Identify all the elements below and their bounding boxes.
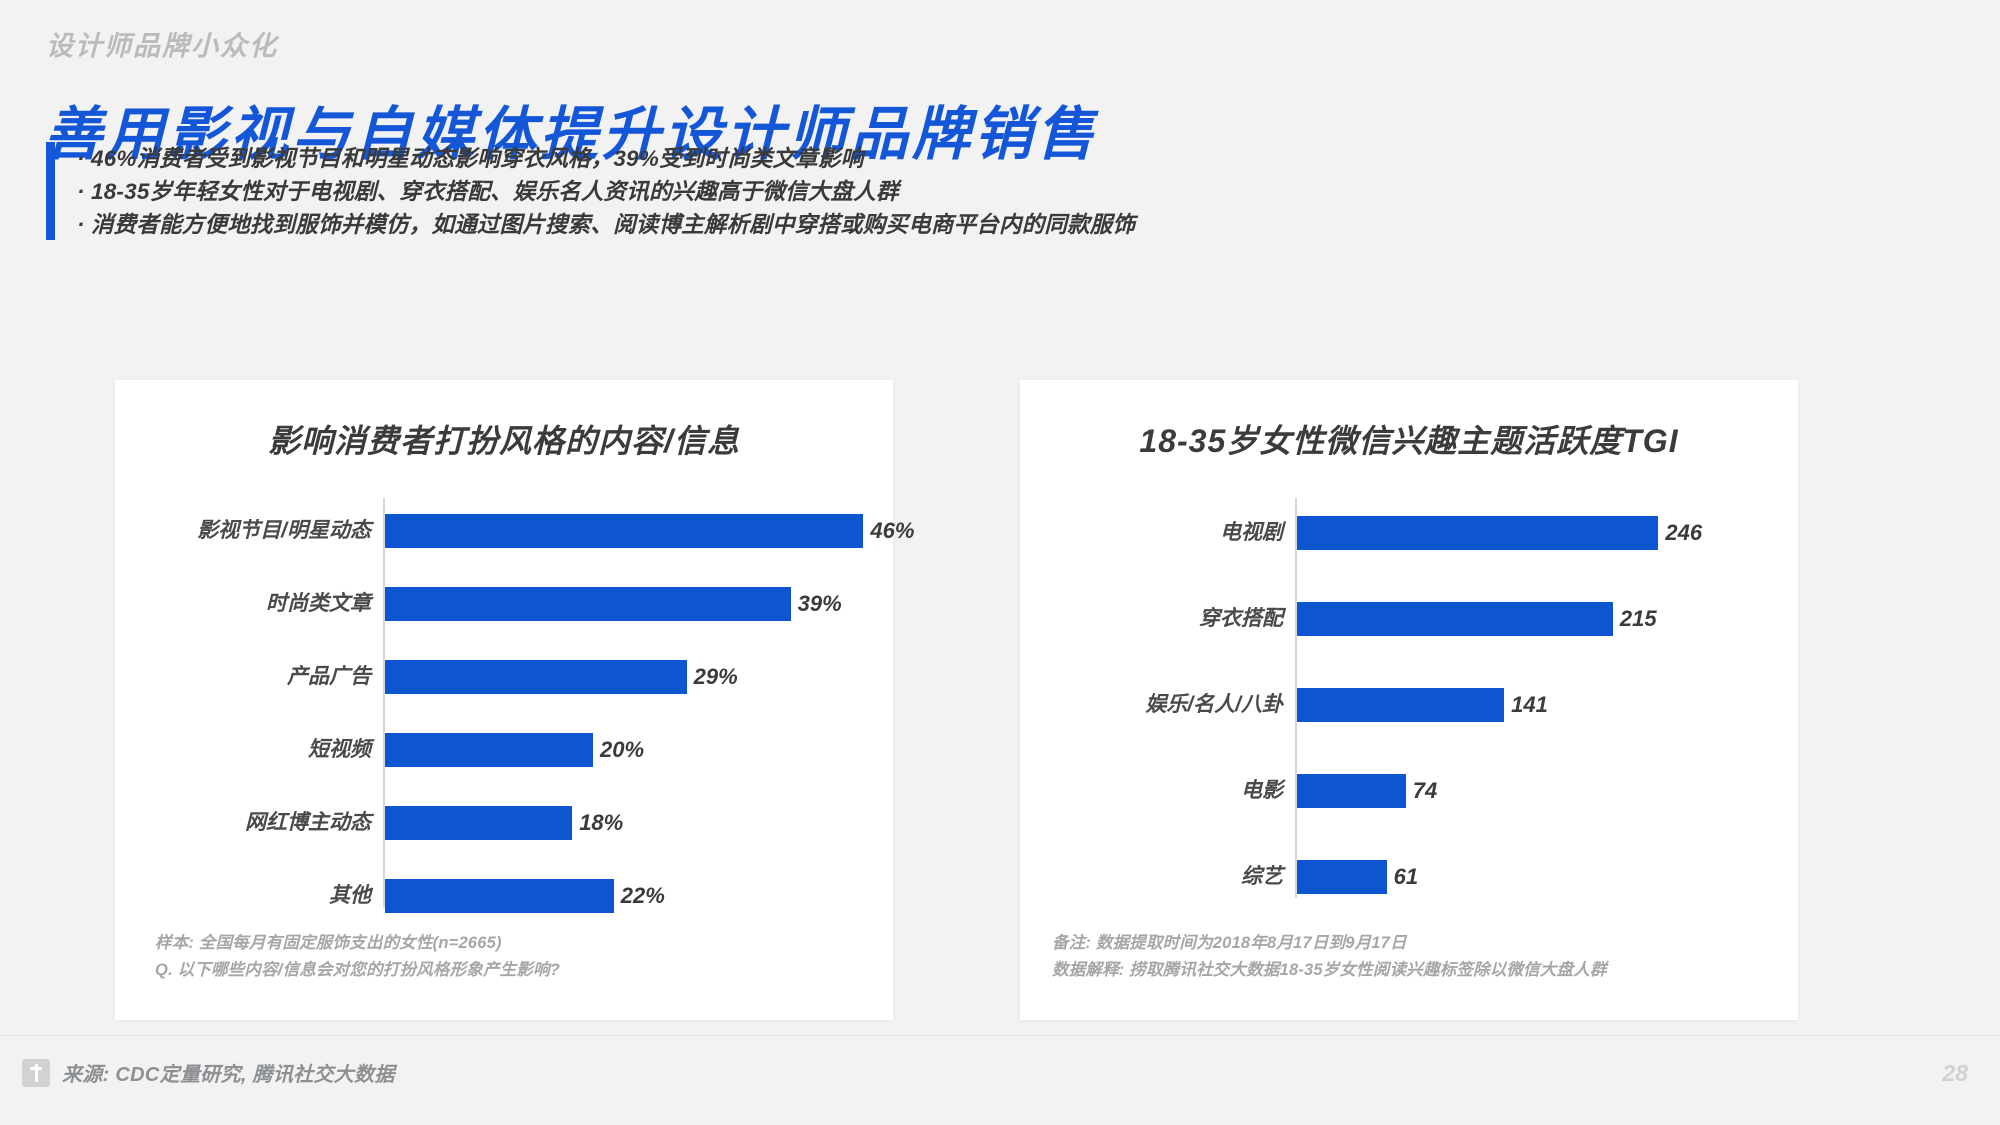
- list-item-label: 18-35岁年轻女性对于电视剧、穿衣搭配、娱乐名人资讯的兴趣高于微信大盘人群: [91, 179, 899, 204]
- list-item-label: 消费者能方便地找到服饰并模仿，如通过图片搜索、阅读博主解析剧中穿搭或购买电商平台…: [91, 212, 1135, 237]
- category-label: 穿衣搭配: [1020, 602, 1283, 636]
- bar-value-label: 39%: [798, 587, 842, 621]
- list-item: ·18-35岁年轻女性对于电视剧、穿衣搭配、娱乐名人资讯的兴趣高于微信大盘人群: [77, 175, 1135, 208]
- footer: 来源: CDC定量研究, 腾讯社交大数据: [22, 1058, 395, 1087]
- footnote-line: Q. 以下哪些内容/信息会对您的打扮风格形象产生影响?: [155, 957, 560, 984]
- category-label: 综艺: [1020, 860, 1283, 894]
- chart-card-right: 18-35岁女性微信兴趣主题活跃度TGI 电视剧246穿衣搭配215娱乐/名人/…: [1020, 380, 1798, 1020]
- bar: [385, 587, 791, 621]
- chart-title: 18-35岁女性微信兴趣主题活跃度TGI: [1020, 416, 1798, 462]
- bar: [1297, 602, 1613, 636]
- chart-bar-row: 影视节目/明星动态46%: [115, 514, 893, 548]
- category-label: 产品广告: [115, 660, 371, 694]
- footer-divider: [0, 1035, 2000, 1036]
- bar-value-label: 29%: [694, 660, 738, 694]
- bar-value-label: 46%: [870, 514, 914, 548]
- bar: [1297, 860, 1387, 894]
- chart-bar-row: 时尚类文章39%: [115, 587, 893, 621]
- category-label: 时尚类文章: [115, 587, 371, 621]
- slide: 设计师品牌小众化 善用影视与自媒体提升设计师品牌销售 ·46%消费者受到影视节目…: [0, 0, 2000, 1125]
- bar-value-label: 18%: [579, 806, 623, 840]
- value-axis-line: [383, 498, 385, 908]
- footnote-line: 备注: 数据提取时间为2018年8月17日到9月17日: [1052, 930, 1607, 957]
- chart-bar-row: 网红博主动态18%: [115, 806, 893, 840]
- bullet-marker-icon: ·: [77, 175, 91, 208]
- chart-bar-row: 其他22%: [115, 879, 893, 913]
- footnote-line: 样本: 全国每月有固定服饰支出的女性(n=2665): [155, 930, 560, 957]
- chart-bar-row: 电视剧246: [1020, 516, 1798, 550]
- bullet-marker-icon: ·: [77, 208, 91, 241]
- bar: [1297, 774, 1406, 808]
- footnote-line: 数据解释: 捞取腾讯社交大数据18-35岁女性阅读兴趣标签除以微信大盘人群: [1052, 957, 1607, 984]
- chart-bar-row: 综艺61: [1020, 860, 1798, 894]
- chart-bar-row: 穿衣搭配215: [1020, 602, 1798, 636]
- chart-card-left: 影响消费者打扮风格的内容/信息 影视节目/明星动态46%时尚类文章39%产品广告…: [115, 380, 893, 1020]
- bar: [385, 660, 687, 694]
- category-label: 短视频: [115, 733, 371, 767]
- bar-value-label: 74: [1413, 774, 1437, 808]
- bar-value-label: 22%: [621, 879, 665, 913]
- bar: [385, 806, 572, 840]
- chart-footnotes: 备注: 数据提取时间为2018年8月17日到9月17日 数据解释: 捞取腾讯社交…: [1052, 930, 1607, 984]
- bar-chart-left: 影视节目/明星动态46%时尚类文章39%产品广告29%短视频20%网红博主动态1…: [115, 498, 893, 908]
- bar-value-label: 215: [1620, 602, 1657, 636]
- key-points-list: ·46%消费者受到影视节目和明星动态影响穿衣风格，39%受到时尚类文章影响 ·1…: [46, 142, 1135, 240]
- bar: [1297, 688, 1504, 722]
- bar-value-label: 141: [1511, 688, 1548, 722]
- category-label: 影视节目/明星动态: [115, 514, 371, 548]
- chart-bar-row: 短视频20%: [115, 733, 893, 767]
- chart-bar-row: 产品广告29%: [115, 660, 893, 694]
- bar: [1297, 516, 1658, 550]
- chart-footnotes: 样本: 全国每月有固定服饰支出的女性(n=2665) Q. 以下哪些内容/信息会…: [155, 930, 560, 984]
- chart-bar-row: 娱乐/名人/八卦141: [1020, 688, 1798, 722]
- bullet-marker-icon: ·: [77, 142, 91, 175]
- page-number: 28: [1942, 1060, 1968, 1087]
- chart-bar-row: 电影74: [1020, 774, 1798, 808]
- category-label: 电视剧: [1020, 516, 1283, 550]
- category-label: 其他: [115, 879, 371, 913]
- category-label: 电影: [1020, 774, 1283, 808]
- list-item-label: 46%消费者受到影视节目和明星动态影响穿衣风格，39%受到时尚类文章影响: [91, 146, 863, 171]
- chart-title: 影响消费者打扮风格的内容/信息: [115, 416, 893, 462]
- bar: [385, 733, 593, 767]
- list-item: ·消费者能方便地找到服饰并模仿，如通过图片搜索、阅读博主解析剧中穿搭或购买电商平…: [77, 208, 1135, 241]
- bar-value-label: 61: [1394, 860, 1418, 894]
- bar: [385, 879, 614, 913]
- source-label: 来源: CDC定量研究, 腾讯社交大数据: [62, 1058, 395, 1087]
- slide-kicker: 设计师品牌小众化: [46, 24, 278, 63]
- source-marker-icon: [22, 1059, 50, 1087]
- list-item: ·46%消费者受到影视节目和明星动态影响穿衣风格，39%受到时尚类文章影响: [77, 142, 1135, 175]
- bar: [385, 514, 863, 548]
- bar-chart-right: 电视剧246穿衣搭配215娱乐/名人/八卦141电影74综艺61: [1020, 498, 1798, 908]
- bar-value-label: 20%: [600, 733, 644, 767]
- category-label: 网红博主动态: [115, 806, 371, 840]
- bar-value-label: 246: [1665, 516, 1702, 550]
- category-label: 娱乐/名人/八卦: [1020, 688, 1283, 722]
